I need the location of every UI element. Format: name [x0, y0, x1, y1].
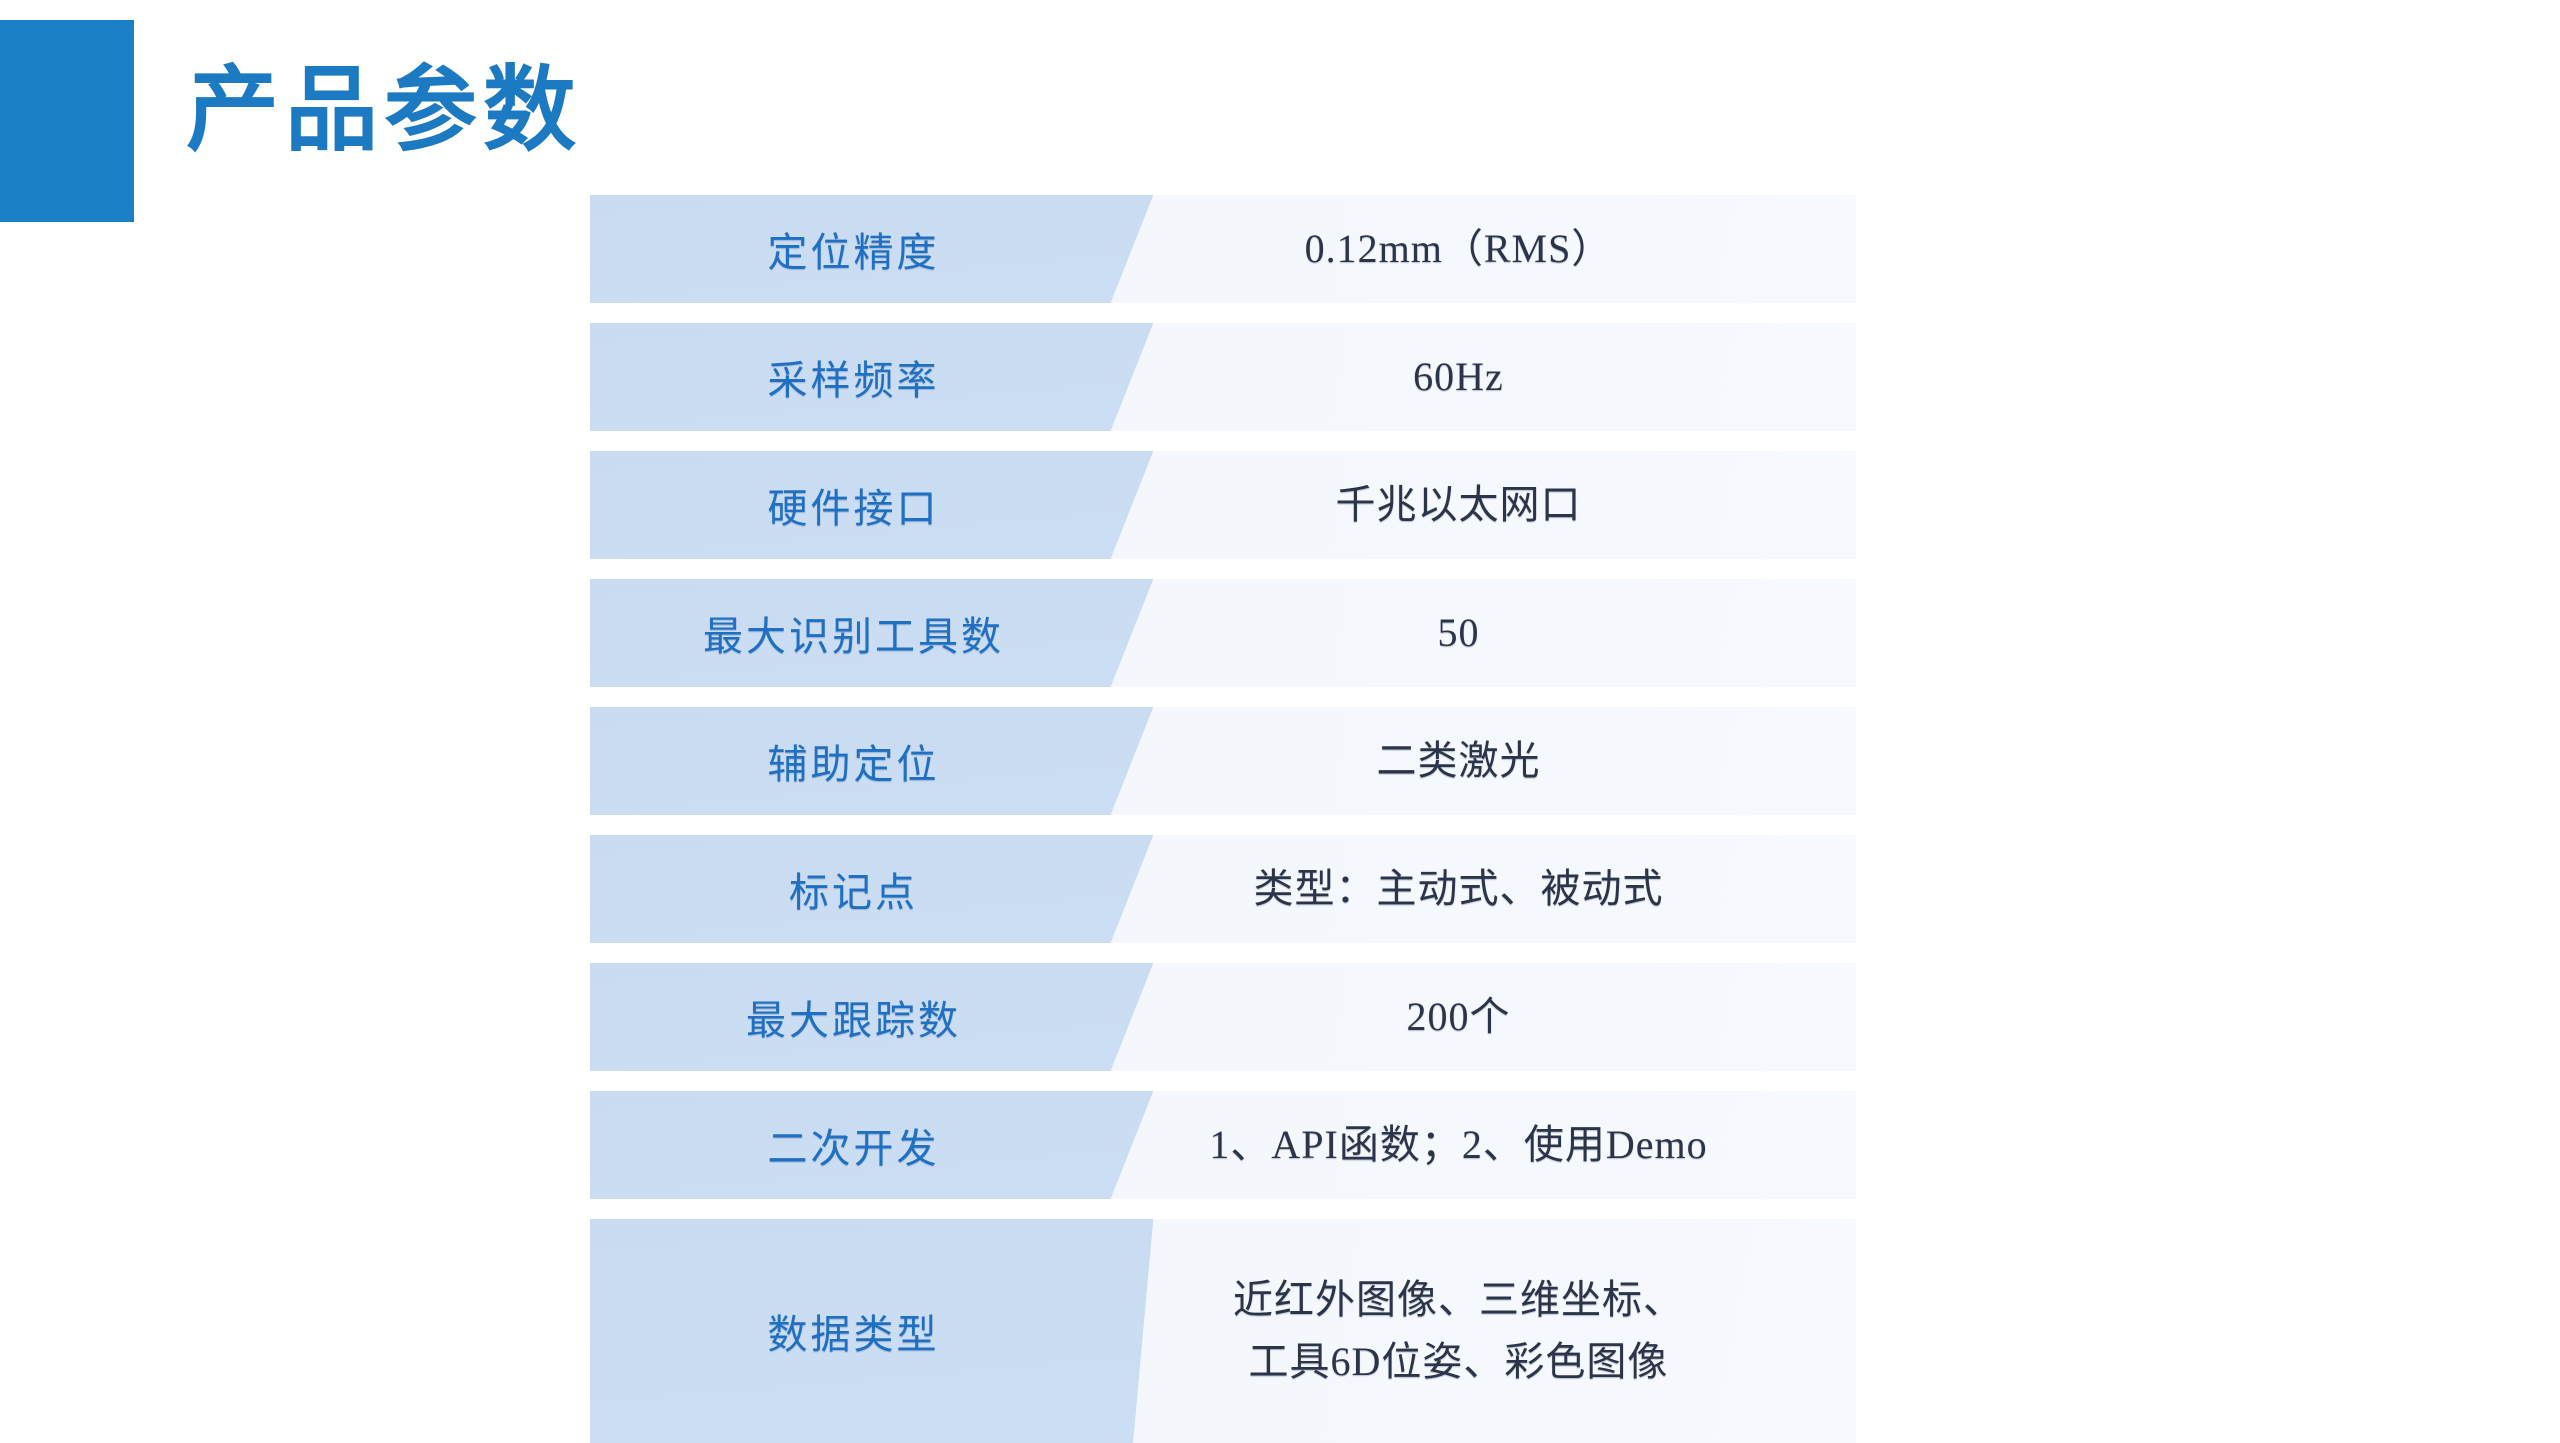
spec-label-text: 硬件接口	[590, 451, 1117, 559]
slide-canvas: 产品参数 定位精度0.12mm（RMS）采样频率60Hz硬件接口千兆以太网口最大…	[0, 0, 2560, 1440]
spec-label-text: 采样频率	[590, 323, 1117, 431]
spec-table: 定位精度0.12mm（RMS）采样频率60Hz硬件接口千兆以太网口最大识别工具数…	[590, 195, 1856, 1443]
page-title: 产品参数	[186, 58, 582, 166]
spec-label-text: 最大识别工具数	[590, 579, 1117, 687]
spec-value-text: 0.12mm（RMS）	[1061, 195, 1856, 303]
spec-value-text: 类型：主动式、被动式	[1061, 835, 1856, 943]
spec-value-line: 类型：主动式、被动式	[1254, 858, 1664, 920]
spec-value-text: 千兆以太网口	[1061, 451, 1856, 559]
spec-label-text: 定位精度	[590, 195, 1117, 303]
spec-row: 二次开发1、API函数；2、使用Demo	[590, 1091, 1856, 1199]
spec-value-text: 1、API函数；2、使用Demo	[1061, 1091, 1856, 1199]
spec-value-line: 工具6D位姿、彩色图像	[1249, 1331, 1669, 1393]
spec-label-text: 辅助定位	[590, 707, 1117, 815]
spec-value-text: 200个	[1061, 963, 1856, 1071]
spec-value-line: 二类激光	[1377, 730, 1541, 792]
spec-value-line: 200个	[1407, 986, 1511, 1048]
spec-value-line: 近红外图像、三维坐标、	[1233, 1269, 1684, 1331]
spec-row: 最大识别工具数50	[590, 579, 1856, 687]
spec-row: 定位精度0.12mm（RMS）	[590, 195, 1856, 303]
spec-value-text: 二类激光	[1061, 707, 1856, 815]
spec-row: 硬件接口千兆以太网口	[590, 451, 1856, 559]
spec-row: 标记点类型：主动式、被动式	[590, 835, 1856, 943]
accent-block	[0, 20, 134, 222]
spec-label-text: 最大跟踪数	[590, 963, 1117, 1071]
spec-value-text: 60Hz	[1061, 323, 1856, 431]
spec-value-line: 千兆以太网口	[1336, 474, 1582, 536]
spec-value-line: 1、API函数；2、使用Demo	[1209, 1114, 1707, 1176]
spec-label-text: 二次开发	[590, 1091, 1117, 1199]
spec-value-line: 60Hz	[1413, 346, 1504, 408]
spec-row: 采样频率60Hz	[590, 323, 1856, 431]
spec-row: 辅助定位二类激光	[590, 707, 1856, 815]
spec-value-line: 0.12mm（RMS）	[1305, 218, 1613, 280]
spec-value-text: 50	[1061, 579, 1856, 687]
spec-label-text: 标记点	[590, 835, 1117, 943]
spec-row: 最大跟踪数200个	[590, 963, 1856, 1071]
spec-label-text: 数据类型	[590, 1219, 1117, 1443]
spec-value-line: 50	[1438, 602, 1480, 664]
spec-row: 数据类型近红外图像、三维坐标、工具6D位姿、彩色图像	[590, 1219, 1856, 1443]
spec-value-text: 近红外图像、三维坐标、工具6D位姿、彩色图像	[1061, 1219, 1856, 1443]
